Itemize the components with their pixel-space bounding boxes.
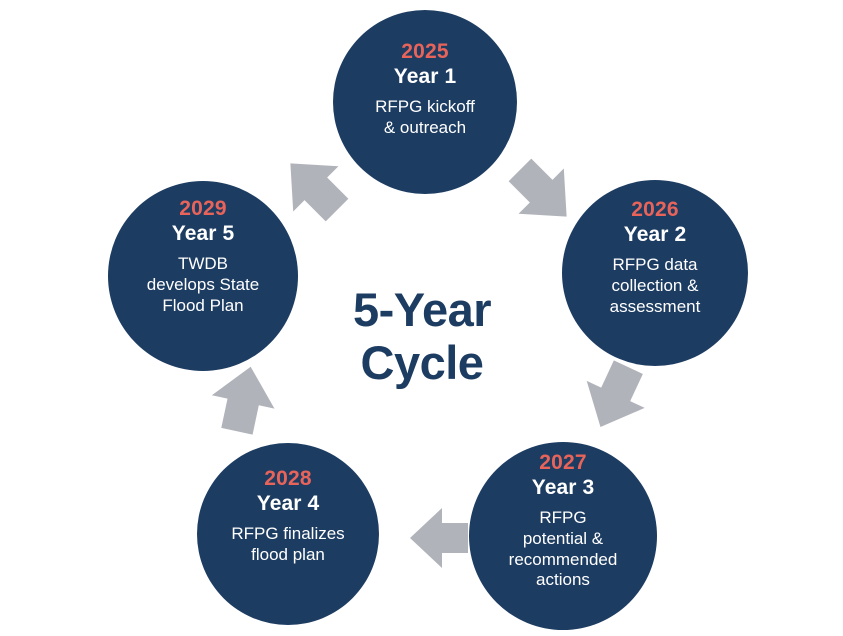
cycle-node-year-1[interactable]: 2025 Year 1 RFPG kickoff & outreach xyxy=(333,10,517,194)
year-number-2028: 2028 xyxy=(264,467,312,491)
arrow-year2-to-year3-icon xyxy=(568,352,660,444)
year-desc-1-line2: & outreach xyxy=(384,118,466,137)
year-number-2029: 2029 xyxy=(179,197,227,221)
year-desc-2-line3: assessment xyxy=(610,297,701,316)
year-label-4: Year 4 xyxy=(257,492,320,516)
center-title-line1: 5-Year xyxy=(353,283,491,336)
cycle-diagram: 5-Year Cycle 2025 Year 1 RFPG kickoff & … xyxy=(0,0,843,636)
year-desc-5-line3: Flood Plan xyxy=(162,296,243,315)
year-label-2: Year 2 xyxy=(624,223,687,247)
cycle-node-year-2[interactable]: 2026 Year 2 RFPG data collection & asses… xyxy=(562,180,748,366)
year-number-2025: 2025 xyxy=(401,40,449,64)
cycle-node-year-5[interactable]: 2029 Year 5 TWDB develops State Flood Pl… xyxy=(108,181,298,371)
year-desc-5-line2: develops State xyxy=(147,275,259,294)
year-desc-2-line2: collection & xyxy=(612,276,699,295)
year-desc-3: RFPG potential & recommended actions xyxy=(503,508,624,591)
year-desc-1: RFPG kickoff & outreach xyxy=(369,97,481,138)
year-label-1: Year 1 xyxy=(394,65,457,89)
year-desc-5: TWDB develops State Flood Plan xyxy=(141,254,265,316)
year-label-3: Year 3 xyxy=(532,476,595,500)
cycle-node-year-4[interactable]: 2028 Year 4 RFPG finalizes flood plan xyxy=(197,443,379,625)
arrow-year5-to-year1-icon xyxy=(267,140,359,232)
year-desc-4-line2: flood plan xyxy=(251,545,325,564)
year-desc-1-line1: RFPG kickoff xyxy=(375,97,475,116)
year-number-2026: 2026 xyxy=(631,198,679,222)
diagram-center-title: 5-Year Cycle xyxy=(312,284,532,389)
year-desc-4-line1: RFPG finalizes xyxy=(231,524,344,543)
year-desc-5-line1: TWDB xyxy=(178,254,228,273)
year-desc-2: RFPG data collection & assessment xyxy=(604,255,707,317)
year-number-2027: 2027 xyxy=(539,451,587,475)
year-desc-3-line4: actions xyxy=(536,570,590,589)
year-desc-2-line1: RFPG data xyxy=(612,255,697,274)
cycle-node-year-3[interactable]: 2027 Year 3 RFPG potential & recommended… xyxy=(469,442,657,630)
year-desc-3-line1: RFPG xyxy=(539,508,586,527)
year-desc-4: RFPG finalizes flood plan xyxy=(225,524,350,565)
year-desc-3-line2: potential & xyxy=(523,529,603,548)
year-label-5: Year 5 xyxy=(172,222,235,246)
year-desc-3-line3: recommended xyxy=(509,550,618,569)
center-title-line2: Cycle xyxy=(312,337,532,390)
